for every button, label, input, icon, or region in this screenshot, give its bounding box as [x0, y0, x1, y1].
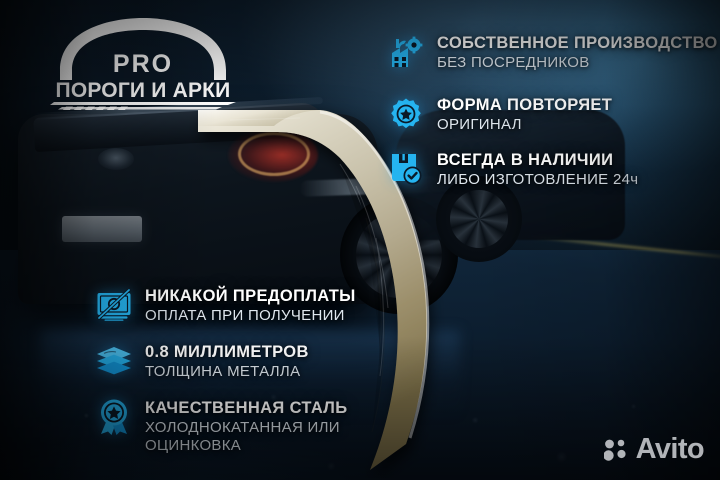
feature-title: СОБСТВЕННОЕ ПРОИЗВОДСТВО	[437, 34, 718, 52]
metal-layers-icon	[96, 342, 132, 380]
feature-title: НИКАКОЙ ПРЕДОПЛАТЫ	[145, 287, 356, 305]
logo-pro-text: PRO	[113, 50, 173, 78]
feature-title: КАЧЕСТВЕННАЯ СТАЛЬ	[145, 399, 377, 417]
award-medal-icon	[96, 398, 132, 436]
advertisement-banner: PRO ПОРОГИ И АРКИ	[0, 0, 720, 480]
feature-steel: КАЧЕСТВЕННАЯ СТАЛЬ ХОЛОДНОКАТАННАЯ ИЛИ О…	[96, 398, 377, 455]
feature-subtitle: ЛИБО ИЗГОТОВЛЕНИЕ 24ч	[437, 171, 638, 189]
feature-thickness: 0.8 МИЛЛИМЕТРОВ ТОЛЩИНА МЕТАЛЛА	[96, 342, 309, 381]
second-car-rim	[450, 190, 508, 248]
speed-stripes-icon	[50, 102, 236, 110]
feature-title: 0.8 МИЛЛИМЕТРОВ	[145, 343, 309, 361]
feature-production: СОБСТВЕННОЕ ПРОИЗВОДСТВО БЕЗ ПОСРЕДНИКОВ	[388, 33, 718, 72]
logo-main-text: ПОРОГИ И АРКИ	[56, 79, 231, 102]
feature-shape: ФОРМА ПОВТОРЯЕТ ОРИГИНАЛ	[388, 95, 612, 134]
no-banknote-icon	[96, 286, 132, 324]
brand-logo: PRO ПОРОГИ И АРКИ	[36, 18, 250, 108]
car-license-plate	[62, 216, 142, 242]
feature-title: ВСЕГДА В НАЛИЧИИ	[437, 151, 638, 169]
feature-title: ФОРМА ПОВТОРЯЕТ	[437, 96, 612, 114]
feature-subtitle: ХОЛОДНОКАТАННАЯ ИЛИ ОЦИНКОВКА	[145, 419, 377, 454]
feature-subtitle: ОПЛАТА ПРИ ПОЛУЧЕНИИ	[145, 307, 356, 325]
feature-prepayment: НИКАКОЙ ПРЕДОПЛАТЫ ОПЛАТА ПРИ ПОЛУЧЕНИИ	[96, 286, 356, 325]
avito-dots-icon	[604, 438, 630, 462]
feature-subtitle: ОРИГИНАЛ	[437, 116, 612, 134]
star-rosette-badge-icon	[388, 95, 424, 133]
feature-subtitle: ТОЛЩИНА МЕТАЛЛА	[145, 363, 309, 381]
feature-stock: ВСЕГДА В НАЛИЧИИ ЛИБО ИЗГОТОВЛЕНИЕ 24ч	[388, 150, 638, 189]
avito-watermark: Avito	[604, 435, 704, 464]
avito-label: Avito	[636, 435, 704, 464]
car-taillight-ring	[238, 132, 310, 176]
feature-subtitle: БЕЗ ПОСРЕДНИКОВ	[437, 54, 718, 72]
car-emblem	[98, 148, 134, 170]
box-check-icon	[388, 150, 424, 188]
factory-gear-icon	[388, 33, 424, 71]
